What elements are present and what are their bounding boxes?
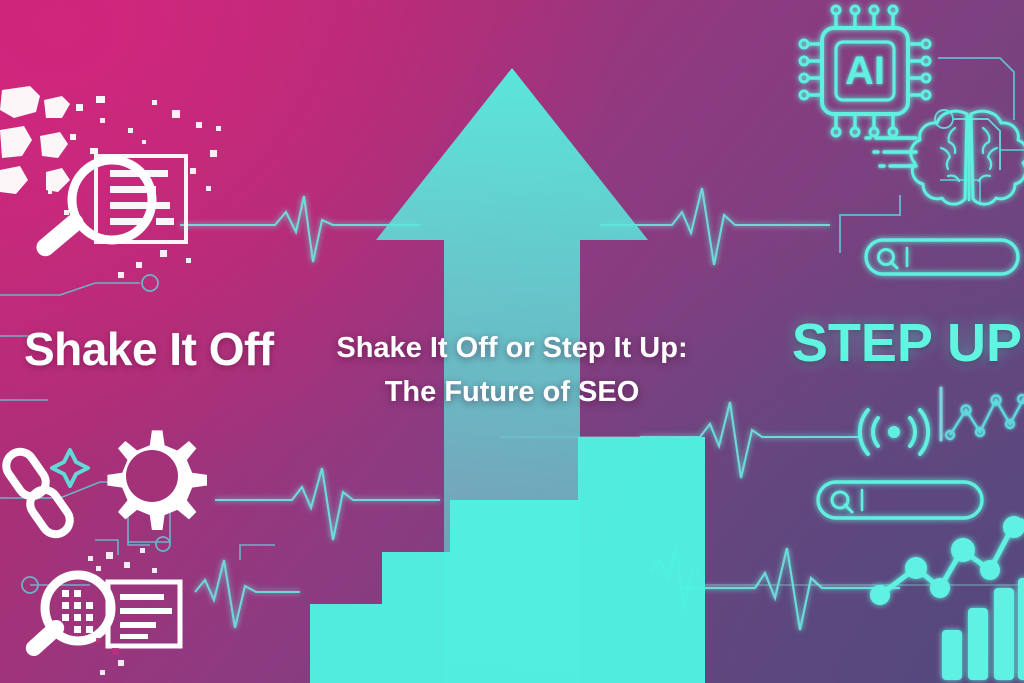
page-title: Shake It Off or Step It Up: The Future o…: [232, 326, 792, 414]
search-bar-bottom[interactable]: [818, 482, 982, 518]
headline-right: STEP UP: [792, 312, 1022, 374]
ai-chip-label: AI: [845, 49, 885, 93]
magnifier-doc-top-icon: [0, 86, 221, 278]
brain-icon: [911, 111, 1024, 204]
magnifier-doc-bottom-icon: [23, 548, 180, 675]
search-bar-top[interactable]: [866, 240, 1018, 274]
broadcast-signal-icon: [860, 410, 928, 454]
pulse-line-bottom-right: [680, 548, 900, 630]
title-line-2: The Future of SEO: [232, 370, 792, 414]
bar-chart-icon: [942, 578, 1024, 680]
title-line-1: Shake It Off or Step It Up:: [336, 332, 687, 364]
pulse-line-middle-left: [215, 468, 440, 540]
pulse-line-top-left: [180, 196, 420, 262]
gear-icon: [107, 430, 207, 530]
signal-dashes-icon: [866, 138, 916, 166]
seo-banner: AI: [0, 0, 1024, 683]
sparkle-icon: [52, 450, 88, 486]
line-chart-small-icon: [941, 388, 1024, 440]
pulse-line-bottom-left: [195, 560, 300, 628]
